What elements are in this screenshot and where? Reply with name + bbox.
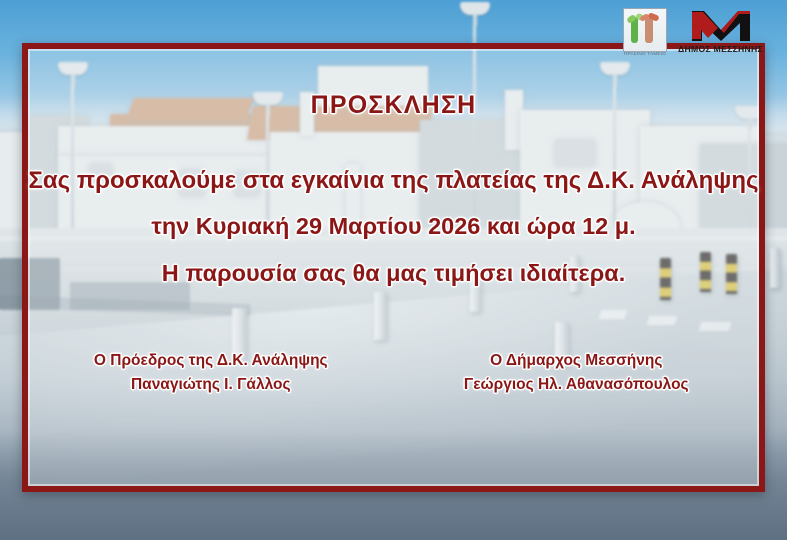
signature-role: Ο Δήμαρχος Μεσσήνης — [394, 349, 760, 373]
signature-name: Γεώργιος Ηλ. Αθανασόπουλος — [394, 373, 760, 397]
invitation-line-3: Η παρουσία σας θα μας τιμήσει ιδιαίτερα. — [28, 260, 759, 287]
invitation-line-1: Σας προσκαλούμε στα εγκαίνια της πλατεία… — [28, 167, 759, 195]
poster-content: ΠΡΟΣΚΛΗΣΗ Σας προσκαλούμε στα εγκαίνια τ… — [28, 49, 759, 486]
invitation-poster: ΠΡΑΣΙΝΟ ΤΑΜΕΙΟ ΔΗΜΟΣ ΜΕΣΣΗΝΗΣ ΠΡΟΣΚΛΗΣΗ … — [0, 0, 787, 540]
prasino-tameio-icon — [623, 8, 667, 52]
page-title: ΠΡΟΣΚΛΗΣΗ — [28, 91, 759, 120]
signature-mayor: Ο Δήμαρχος Μεσσήνης Γεώργιος Ηλ. Αθανασό… — [394, 349, 760, 397]
lamp-head — [460, 2, 490, 15]
prasino-tameio-caption: ΠΡΑΣΙΝΟ ΤΑΜΕΙΟ — [614, 52, 676, 57]
invitation-line-2: την Κυριακή 29 Μαρτίου 2026 και ώρα 12 μ… — [28, 213, 759, 240]
logo-group: ΠΡΑΣΙΝΟ ΤΑΜΕΙΟ ΔΗΜΟΣ ΜΕΣΣΗΝΗΣ — [622, 8, 763, 57]
signature-role: Ο Πρόεδρος της Δ.Κ. Ανάληψης — [28, 349, 394, 373]
messini-m-icon — [690, 9, 752, 43]
dimos-messinis-caption: ΔΗΜΟΣ ΜΕΣΣΗΝΗΣ — [678, 44, 763, 54]
signature-block: Ο Πρόεδρος της Δ.Κ. Ανάληψης Παναγιώτης … — [28, 349, 759, 397]
signature-name: Παναγιώτης Ι. Γάλλος — [28, 373, 394, 397]
prasino-tameio-logo: ΠΡΑΣΙΝΟ ΤΑΜΕΙΟ — [622, 8, 668, 57]
dimos-messinis-logo: ΔΗΜΟΣ ΜΕΣΣΗΝΗΣ — [678, 8, 763, 54]
signature-president: Ο Πρόεδρος της Δ.Κ. Ανάληψης Παναγιώτης … — [28, 349, 394, 397]
logo-shape-red-body — [645, 18, 653, 43]
dimos-messinis-mark — [690, 9, 752, 43]
bollard — [770, 248, 780, 288]
